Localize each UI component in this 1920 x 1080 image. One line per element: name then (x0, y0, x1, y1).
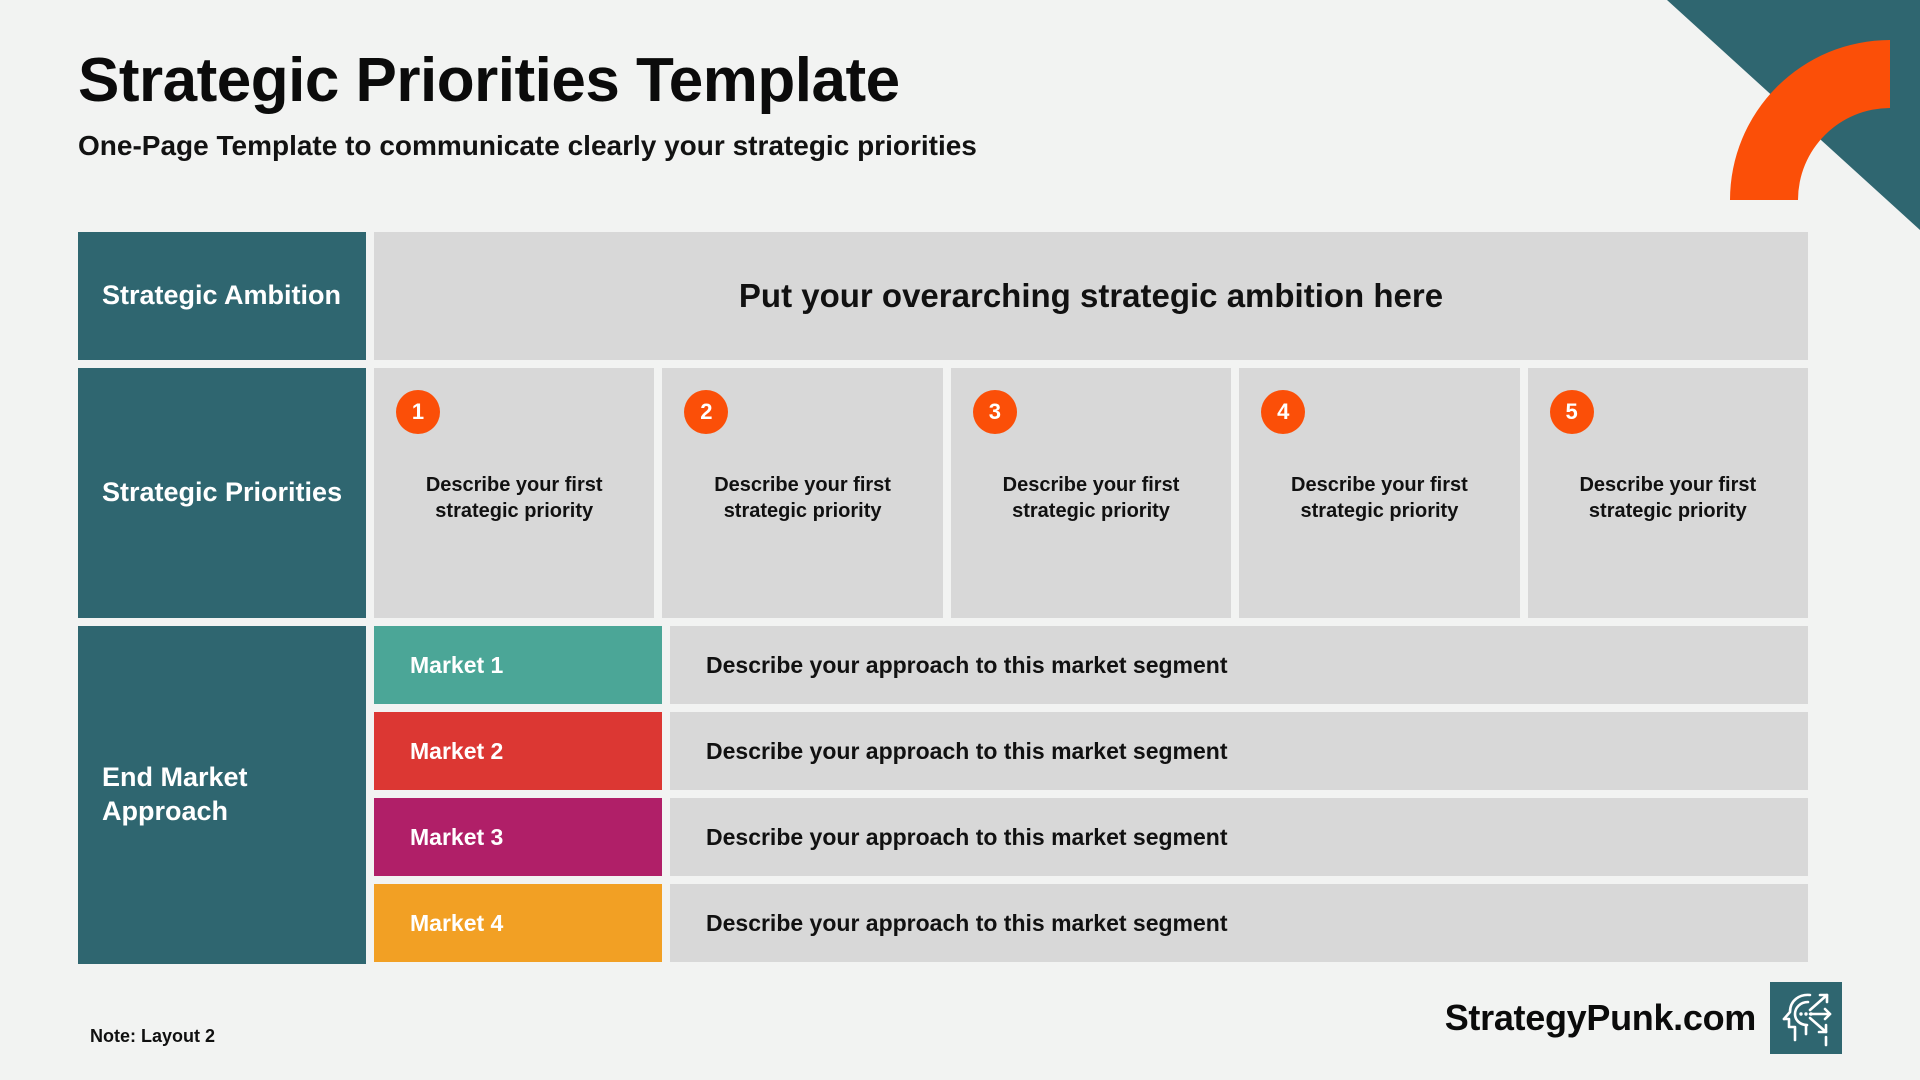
strategic-ambition-banner[interactable]: Put your overarching strategic ambition … (374, 232, 1808, 360)
brand-footer[interactable]: StrategyPunk.com (1445, 982, 1842, 1054)
head-profile-arrows-icon (1770, 982, 1842, 1054)
market-name-chip[interactable]: Market 3 (374, 798, 662, 876)
priority-card[interactable]: 1 Describe your first strategic priority (374, 368, 654, 618)
priority-card[interactable]: 4 Describe your first strategic priority (1239, 368, 1519, 618)
priority-card-text: Describe your first strategic priority (662, 472, 942, 525)
triangle-arc-corner-decoration (1620, 0, 1920, 230)
template-grid: Strategic Ambition Put your overarching … (78, 232, 1808, 964)
priority-number-badge: 2 (684, 390, 728, 434)
strategic-ambition-row: Strategic Ambition Put your overarching … (78, 232, 1808, 360)
market-row: Market 3 Describe your approach to this … (374, 798, 1808, 876)
priority-card[interactable]: 3 Describe your first strategic priority (951, 368, 1231, 618)
market-name-chip[interactable]: Market 1 (374, 626, 662, 704)
strategic-priorities-row: Strategic Priorities 1 Describe your fir… (78, 368, 1808, 618)
end-market-approach-label: End Market Approach (78, 626, 366, 964)
market-row: Market 2 Describe your approach to this … (374, 712, 1808, 790)
market-rows-container: Market 1 Describe your approach to this … (374, 626, 1808, 964)
market-name-chip[interactable]: Market 2 (374, 712, 662, 790)
market-name-chip[interactable]: Market 4 (374, 884, 662, 962)
header: Strategic Priorities Template One-Page T… (78, 48, 1378, 163)
page-title: Strategic Priorities Template (78, 48, 1378, 115)
market-description[interactable]: Describe your approach to this market se… (670, 798, 1808, 876)
priority-number-badge: 1 (396, 390, 440, 434)
slide-canvas: Strategic Priorities Template One-Page T… (0, 0, 1920, 1080)
priority-card[interactable]: 2 Describe your first strategic priority (662, 368, 942, 618)
strategic-ambition-label: Strategic Ambition (78, 232, 366, 360)
page-subtitle: One-Page Template to communicate clearly… (78, 129, 1378, 163)
market-row: Market 1 Describe your approach to this … (374, 626, 1808, 704)
layout-note: Note: Layout 2 (90, 1026, 215, 1047)
market-description[interactable]: Describe your approach to this market se… (670, 884, 1808, 962)
priority-card[interactable]: 5 Describe your first strategic priority (1528, 368, 1808, 618)
priority-number-badge: 4 (1261, 390, 1305, 434)
priority-cards-container: 1 Describe your first strategic priority… (374, 368, 1808, 618)
market-description[interactable]: Describe your approach to this market se… (670, 712, 1808, 790)
priority-card-text: Describe your first strategic priority (374, 472, 654, 525)
priority-number-badge: 5 (1550, 390, 1594, 434)
strategic-priorities-label: Strategic Priorities (78, 368, 366, 618)
end-market-approach-row: End Market Approach Market 1 Describe yo… (78, 626, 1808, 964)
priority-card-text: Describe your first strategic priority (1528, 472, 1808, 525)
priority-card-text: Describe your first strategic priority (951, 472, 1231, 525)
market-description[interactable]: Describe your approach to this market se… (670, 626, 1808, 704)
priority-card-text: Describe your first strategic priority (1239, 472, 1519, 525)
priority-number-badge: 3 (973, 390, 1017, 434)
market-row: Market 4 Describe your approach to this … (374, 884, 1808, 962)
brand-name: StrategyPunk.com (1445, 997, 1756, 1039)
